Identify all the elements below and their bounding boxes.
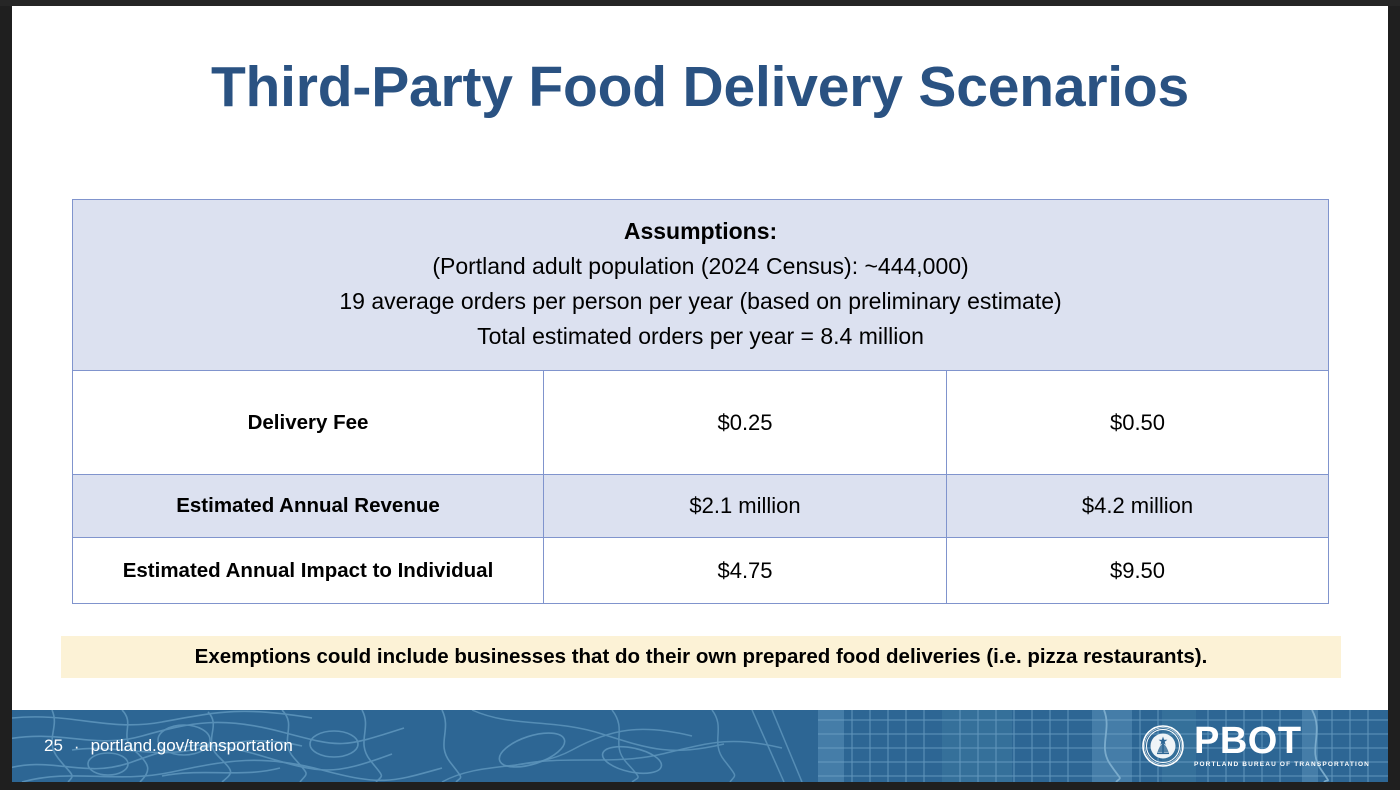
assumptions-heading: Assumptions: xyxy=(83,214,1318,249)
assumptions-line-population: (Portland adult population (2024 Census)… xyxy=(83,249,1318,284)
pbot-tagline: PORTLAND BUREAU OF TRANSPORTATION xyxy=(1194,762,1370,769)
row-label-annual-impact: Estimated Annual Impact to Individual xyxy=(73,538,544,604)
slide-frame: Third-Party Food Delivery Scenarios Assu… xyxy=(0,0,1400,790)
row-label-delivery-fee: Delivery Fee xyxy=(73,371,544,475)
slide-number: 25 xyxy=(44,736,63,756)
row-value-delivery-fee-b: $0.50 xyxy=(947,371,1329,475)
table-row: Delivery Fee $0.25 $0.50 xyxy=(73,371,1329,475)
assumptions-line-total: Total estimated orders per year = 8.4 mi… xyxy=(83,319,1318,354)
row-label-annual-revenue: Estimated Annual Revenue xyxy=(73,475,544,538)
pbot-logo: PBOT PORTLAND BUREAU OF TRANSPORTATION xyxy=(1142,710,1370,782)
footer-text: 25 · portland.gov/transportation xyxy=(44,710,293,782)
table-row: Estimated Annual Impact to Individual $4… xyxy=(73,538,1329,604)
table-row: Estimated Annual Revenue $2.1 million $4… xyxy=(73,475,1329,538)
assumptions-row: Assumptions: (Portland adult population … xyxy=(73,200,1329,371)
row-value-annual-revenue-b: $4.2 million xyxy=(947,475,1329,538)
row-value-annual-impact-b: $9.50 xyxy=(947,538,1329,604)
pbot-wordmark: PBOT PORTLAND BUREAU OF TRANSPORTATION xyxy=(1194,723,1370,769)
city-seal-icon xyxy=(1142,725,1184,767)
bottom-letterbox-strip xyxy=(0,782,1400,790)
footer-band: 25 · portland.gov/transportation xyxy=(12,710,1388,782)
row-value-annual-revenue-a: $2.1 million xyxy=(544,475,947,538)
footer-url[interactable]: portland.gov/transportation xyxy=(91,736,293,756)
pbot-name: PBOT xyxy=(1194,723,1302,759)
slide-canvas: Third-Party Food Delivery Scenarios Assu… xyxy=(12,6,1388,782)
top-letterbox-strip xyxy=(0,0,1400,6)
row-value-annual-impact-a: $4.75 xyxy=(544,538,947,604)
assumptions-cell: Assumptions: (Portland adult population … xyxy=(73,200,1329,371)
exemption-note: Exemptions could include businesses that… xyxy=(61,636,1341,678)
scenario-table: Assumptions: (Portland adult population … xyxy=(72,199,1329,604)
assumptions-line-orders: 19 average orders per person per year (b… xyxy=(83,284,1318,319)
footer-separator: · xyxy=(74,738,80,755)
row-value-delivery-fee-a: $0.25 xyxy=(544,371,947,475)
page-title: Third-Party Food Delivery Scenarios xyxy=(12,56,1388,119)
